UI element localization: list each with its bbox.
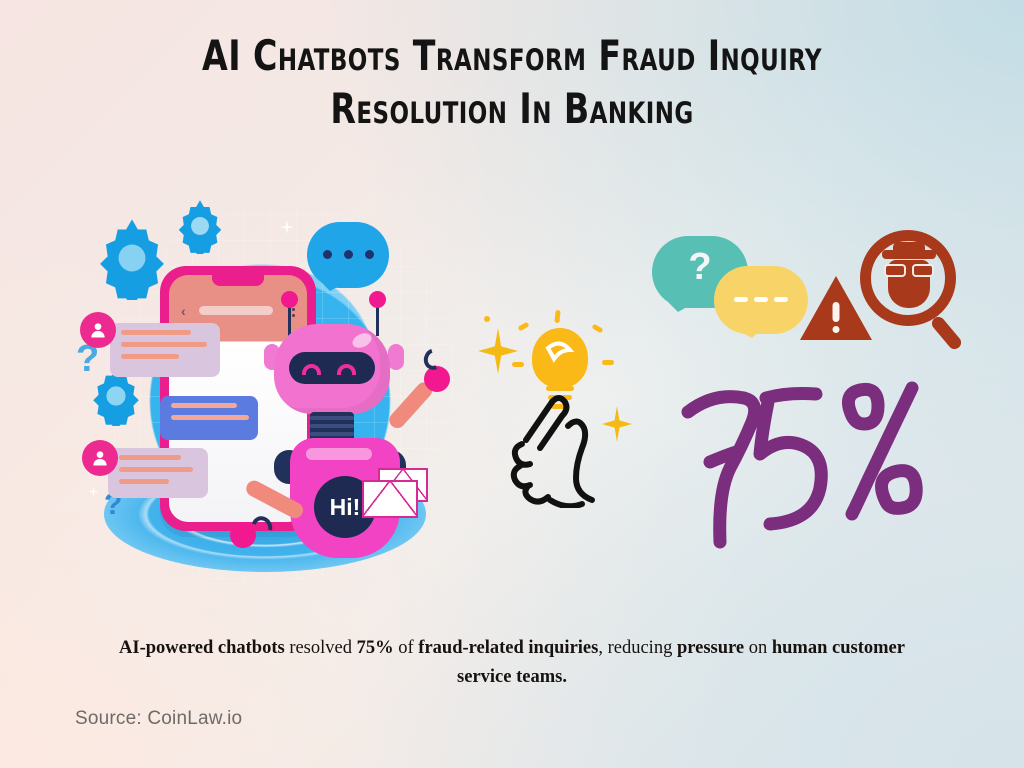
- robot-antenna: [376, 306, 379, 336]
- phone-notch: [212, 275, 264, 286]
- question-mark-glyph: ?: [688, 246, 711, 289]
- lightbulb-ray: [591, 324, 603, 334]
- caption-bold-run: 75%: [357, 638, 394, 658]
- caption-bold-run: pressure: [677, 638, 744, 658]
- robot-eye: [302, 364, 321, 375]
- caption-bold-run: fraud-related inquiries: [418, 638, 598, 658]
- source-attribution: Source: CoinLaw.io: [75, 708, 242, 730]
- sunglasses-icon: [884, 264, 934, 277]
- exclamation-bar: [833, 302, 840, 322]
- spy-hat-brim: [882, 250, 936, 259]
- back-chevron-icon[interactable]: ‹: [181, 303, 186, 319]
- caption-text: AI-powered chatbots resolved 75% of frau…: [96, 634, 928, 691]
- robot-visor: [289, 352, 375, 384]
- gear-icon: [172, 198, 228, 254]
- robot-hand: [424, 366, 450, 392]
- idea-cluster: [470, 300, 650, 515]
- lightbulb-ray: [484, 316, 490, 322]
- chatbot-robot: Hi!: [248, 300, 430, 558]
- caption-regular-run: on: [744, 638, 772, 658]
- robot-eye: [337, 364, 356, 375]
- lightbulb-ray: [517, 322, 529, 332]
- magnifier-handle: [929, 314, 963, 351]
- sparkle-icon: [88, 486, 99, 497]
- caption-bold-run: AI-powered chatbots: [119, 638, 289, 658]
- title-line-2: Resolution in Banking: [61, 83, 962, 136]
- avatar: [82, 440, 118, 476]
- caption-regular-run: of: [394, 638, 419, 658]
- robot-antenna: [288, 306, 291, 336]
- avatar: [80, 312, 116, 348]
- title-line-1: AI Chatbots Transform Fraud Inquiry: [61, 30, 962, 83]
- robot-ear: [388, 344, 404, 370]
- chatbot-illustration: ? ? ‹: [62, 188, 462, 598]
- lightbulb-ray: [512, 362, 524, 367]
- typing-speech-bubble-icon: [714, 266, 808, 334]
- page-title: AI Chatbots Transform Fraud Inquiry Reso…: [0, 30, 1024, 135]
- stat-value-75-percent: [676, 376, 938, 551]
- sparkle-star-icon: [478, 328, 518, 374]
- caption-regular-run: resolved: [289, 638, 356, 658]
- lightbulb-icon: [532, 328, 588, 388]
- envelope-icon: [362, 480, 418, 518]
- robot-head: [274, 324, 390, 414]
- caption-regular-run: , reducing: [598, 638, 677, 658]
- chat-bubble: [110, 323, 220, 377]
- exclamation-dot: [833, 326, 840, 333]
- pointing-hand-icon: [506, 382, 618, 513]
- fraud-icon-cluster: ?: [652, 228, 952, 358]
- chat-bubble: [160, 396, 258, 440]
- speech-bubble-icon: [307, 222, 389, 288]
- lightbulb-ray: [602, 360, 614, 365]
- lightbulb-ray: [554, 310, 560, 323]
- fraudster-face-icon: [880, 250, 938, 310]
- chat-bubble: [108, 448, 208, 498]
